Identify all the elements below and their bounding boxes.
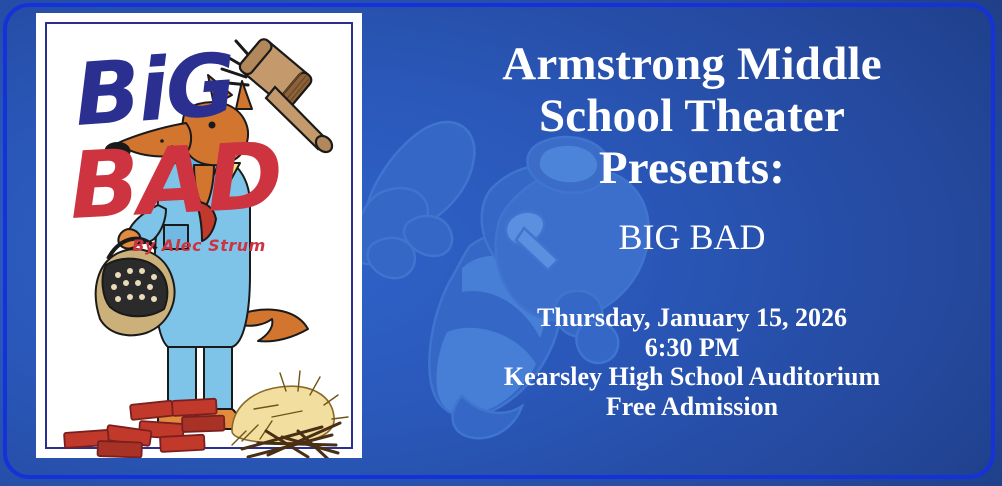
brick-pile <box>64 399 224 458</box>
poster-logo: BiG BAD By Alec Strum <box>36 31 362 241</box>
event-details: Thursday, January 15, 2026 6:30 PM Kears… <box>382 303 1002 421</box>
poster-logo-bad: BAD <box>67 130 283 233</box>
headline-line-2: School Theater <box>382 90 1002 142</box>
headline-line-1: Armstrong Middle <box>382 38 1002 90</box>
announcement-text-column: Armstrong Middle School Theater Presents… <box>382 0 1002 486</box>
event-date: Thursday, January 15, 2026 <box>382 303 1002 333</box>
event-time: 6:30 PM <box>382 333 1002 363</box>
poster-byline: By Alec Strum <box>36 236 362 255</box>
event-venue: Kearsley High School Auditorium <box>382 362 1002 392</box>
show-poster-card: BiG BAD By Alec Strum <box>36 13 362 458</box>
event-announcement-slide: BiG BAD By Alec Strum Armstrong Middle S… <box>0 0 1002 486</box>
headline-line-3: Presents: <box>382 142 1002 194</box>
show-title: BIG BAD <box>382 216 1002 258</box>
event-admission: Free Admission <box>382 392 1002 422</box>
page-title: Armstrong Middle School Theater Presents… <box>382 38 1002 194</box>
